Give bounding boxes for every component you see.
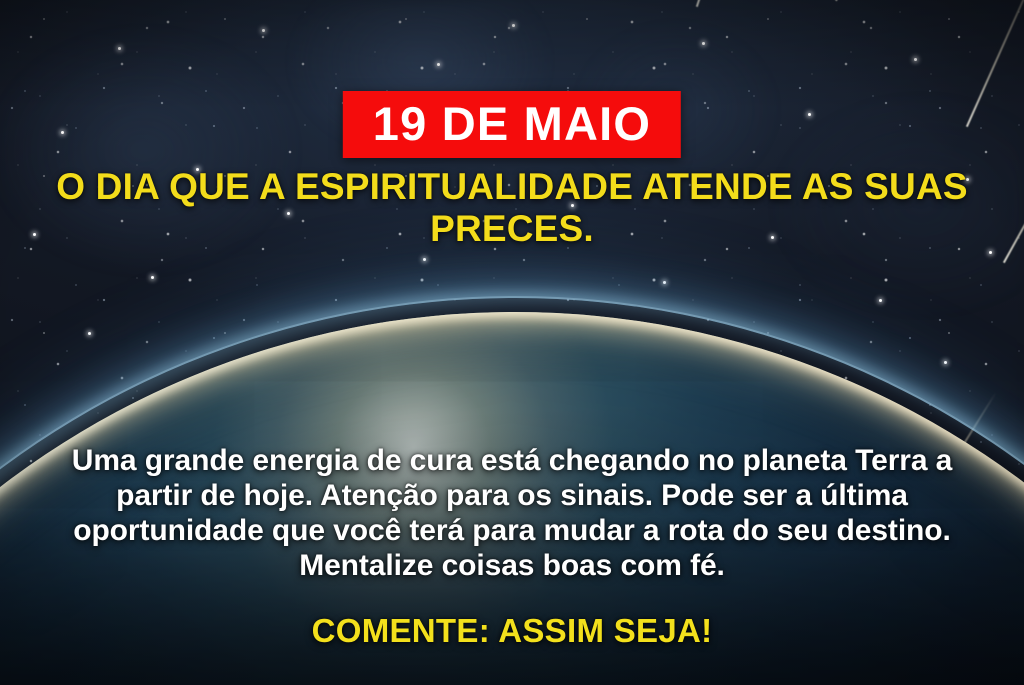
- body-paragraph: Uma grande energia de cura está chegando…: [0, 443, 1024, 583]
- poster-content: 19 DE MAIO O DIA QUE A ESPIRITUALIDADE A…: [0, 0, 1024, 685]
- date-banner-label: 19 DE MAIO: [373, 100, 651, 147]
- headline-text: O DIA QUE A ESPIRITUALIDADE ATENDE AS SU…: [0, 166, 1024, 250]
- call-to-action-text: COMENTE: ASSIM SEJA!: [0, 614, 1024, 647]
- date-banner: 19 DE MAIO: [343, 91, 681, 158]
- poster-canvas: 19 DE MAIO O DIA QUE A ESPIRITUALIDADE A…: [0, 0, 1024, 685]
